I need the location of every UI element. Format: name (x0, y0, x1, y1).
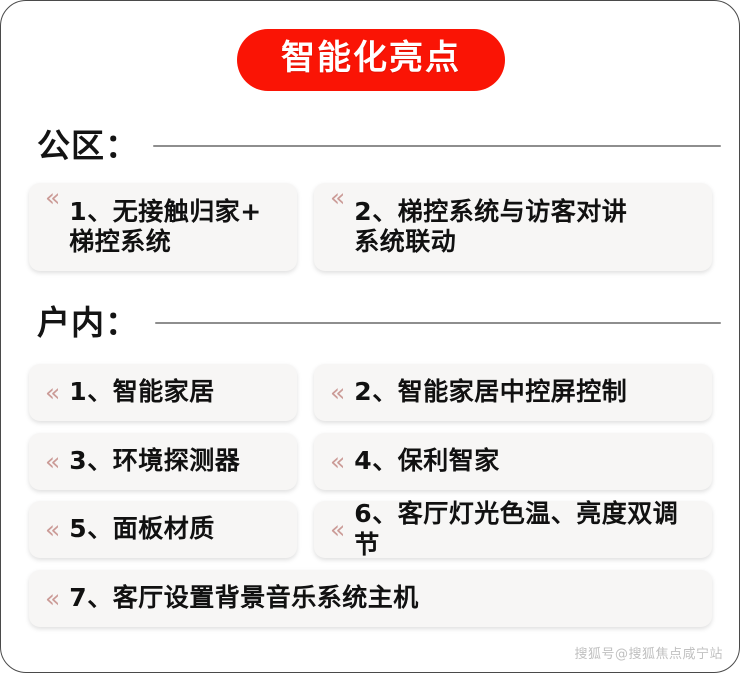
title-banner: 智能化亮点 (1, 29, 740, 91)
list-item-label: 3、环境探测器 (69, 446, 240, 477)
list-item[interactable]: « 3、环境探测器 (29, 433, 297, 490)
list-item[interactable]: « 7、客厅设置背景音乐系统主机 (29, 570, 712, 627)
list-item[interactable]: « 5、面板材质 (29, 501, 297, 558)
list-item[interactable]: « 2、智能家居中控屏控制 (314, 364, 712, 421)
chevron-left-icon: « (330, 380, 345, 405)
chevron-left-icon: « (45, 380, 60, 405)
section-title-indoor: 户内： (37, 296, 139, 344)
chevron-left-icon: « (45, 185, 60, 210)
list-item-label: 2、智能家居中控屏控制 (354, 377, 627, 408)
infographic-page: 智能化亮点 公区： « 1、无接触归家+ 梯控系统 « 2、梯控系统与访客对讲 … (0, 0, 740, 673)
chevron-left-icon: « (330, 449, 345, 474)
list-item-label: 2、梯控系统与访客对讲 系统联动 (354, 197, 627, 258)
chevron-left-icon: « (45, 517, 60, 542)
section-header-public: 公区： (37, 119, 721, 167)
list-item-label: 4、保利智家 (354, 446, 499, 477)
section-title-public: 公区： (37, 119, 139, 167)
watermark: 搜狐号@搜狐焦点咸宁站 (574, 643, 723, 662)
chevron-left-icon: « (330, 185, 345, 210)
chevron-left-icon: « (45, 449, 60, 474)
list-item-label: 1、无接触归家+ 梯控系统 (69, 197, 261, 258)
list-item[interactable]: « 4、保利智家 (314, 433, 712, 490)
list-item[interactable]: « 2、梯控系统与访客对讲 系统联动 (314, 183, 712, 271)
chevron-left-icon: « (330, 517, 345, 542)
section-divider-indoor (155, 322, 721, 324)
section-divider-public (153, 145, 721, 147)
list-item-label: 7、客厅设置背景音乐系统主机 (69, 583, 418, 614)
list-item[interactable]: « 1、无接触归家+ 梯控系统 (29, 183, 297, 271)
list-item-label: 5、面板材质 (69, 514, 214, 545)
chevron-left-icon: « (45, 586, 60, 611)
list-item-label: 1、智能家居 (69, 377, 214, 408)
list-item[interactable]: « 6、客厅灯光色温、亮度双调节 (314, 501, 712, 558)
page-title: 智能化亮点 (237, 29, 505, 91)
section-header-indoor: 户内： (37, 296, 721, 344)
list-item[interactable]: « 1、智能家居 (29, 364, 297, 421)
list-item-label: 6、客厅灯光色温、亮度双调节 (354, 499, 702, 560)
